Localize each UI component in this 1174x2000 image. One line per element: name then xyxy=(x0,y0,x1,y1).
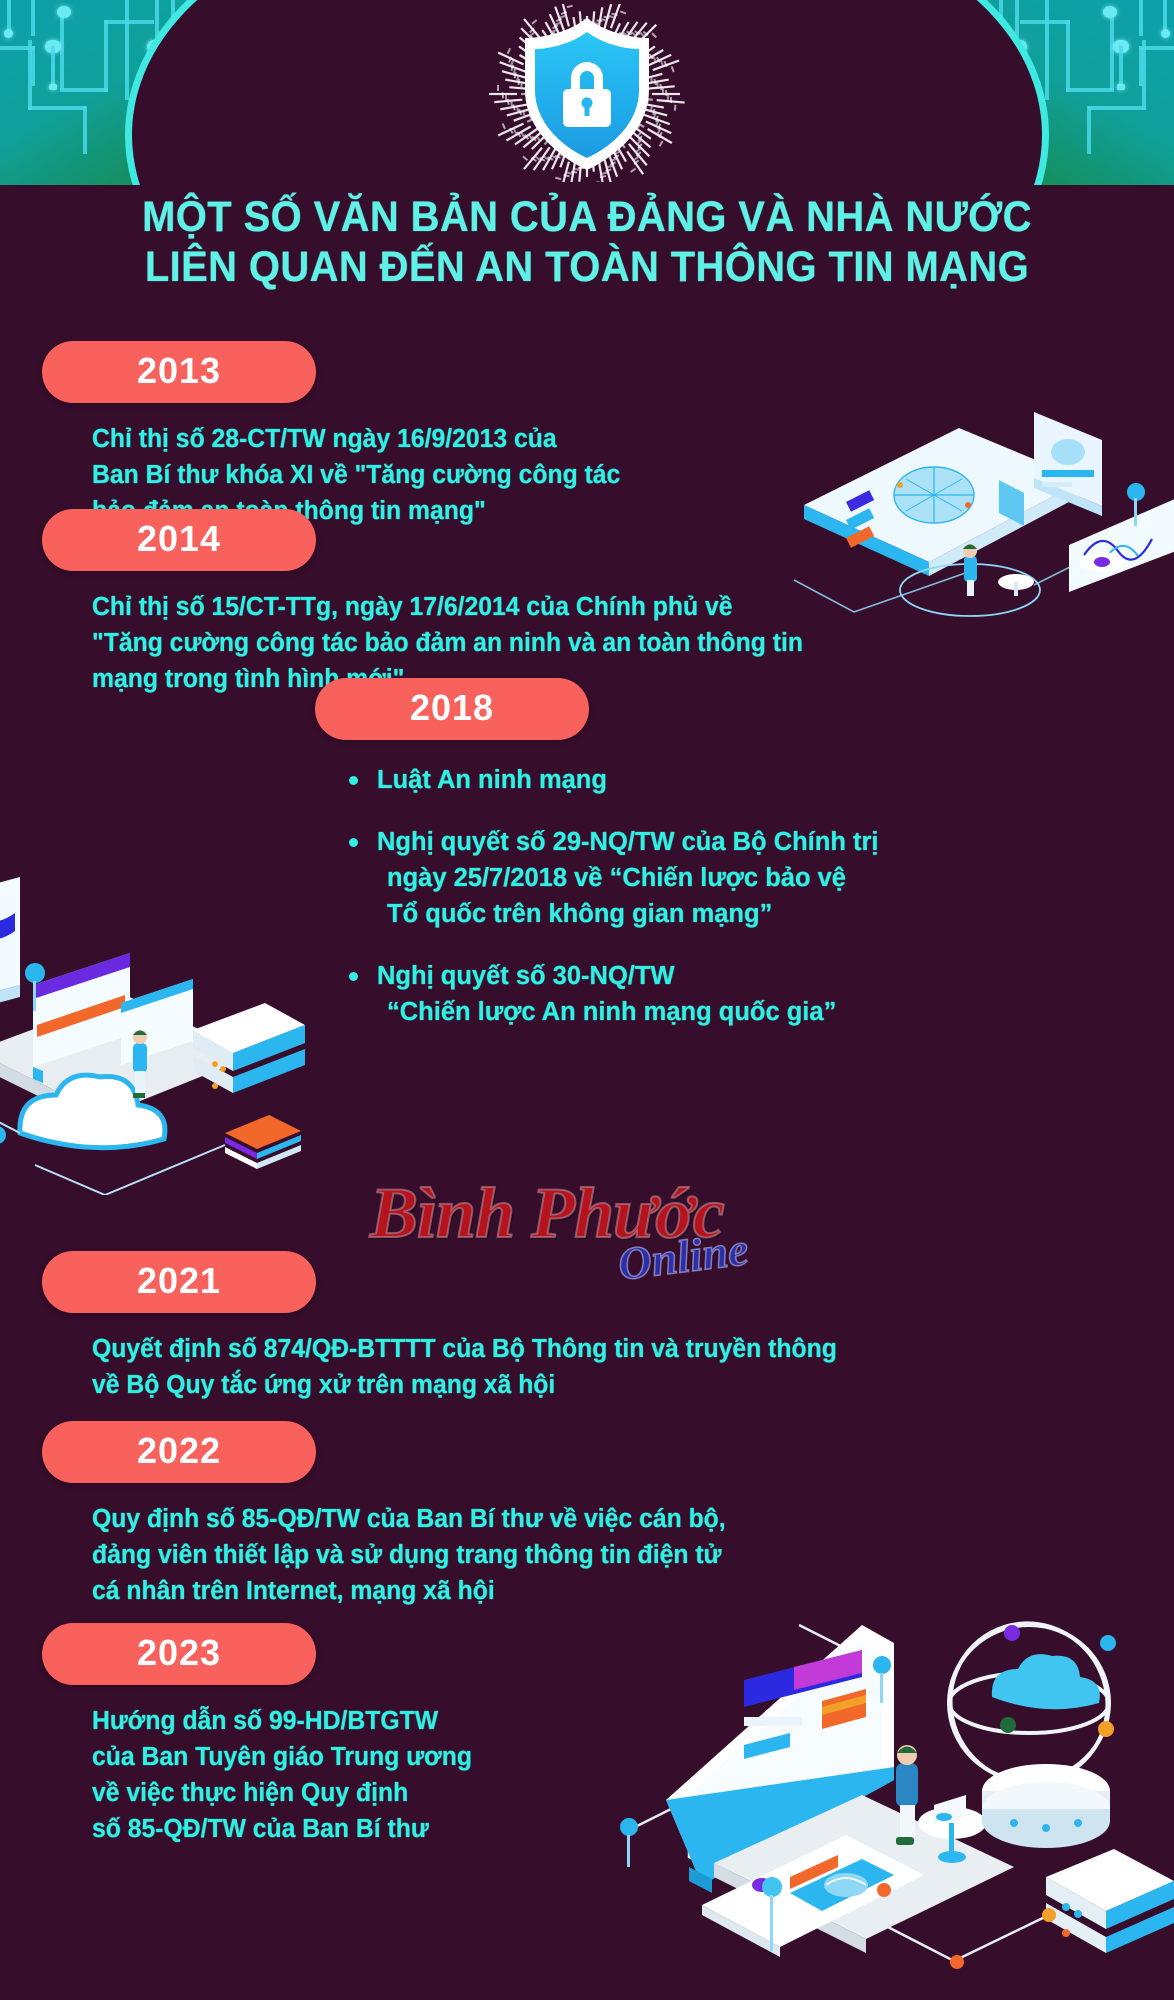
year-badge-2018[interactable]: 2018 xyxy=(315,678,589,740)
text-line: Chỉ thị số 28-CT/TW ngày 16/9/2013 của xyxy=(92,421,620,457)
text-line: Quyết định số 874/QĐ-BTTTT của Bộ Thông … xyxy=(92,1331,837,1367)
text-line: Tổ quốc trên không gian mạng” xyxy=(377,896,879,932)
timeline-entry-2014: 2014 Chỉ thị số 15/CT-TTg, ngày 17/6/201… xyxy=(42,509,825,697)
year-badge-2021[interactable]: 2021 xyxy=(42,1251,316,1313)
text-line: của Ban Tuyên giáo Trung ương xyxy=(92,1739,472,1775)
page-title: MỘT SỐ VĂN BẢN CỦA ĐẢNG VÀ NHÀ NƯỚC LIÊN… xyxy=(0,192,1174,292)
text-line: cá nhân trên Internet, mạng xã hội xyxy=(92,1573,726,1609)
bullet-dot-icon xyxy=(349,838,358,847)
text-line: Nghị quyết số 30-NQ/TW xyxy=(377,958,879,994)
timeline: 2013 Chỉ thị số 28-CT/TW ngày 16/9/2013 … xyxy=(0,0,1174,2000)
list-item: Nghị quyết số 29-NQ/TW của Bộ Chính trị … xyxy=(347,824,879,932)
page-title-line-1: MỘT SỐ VĂN BẢN CỦA ĐẢNG VÀ NHÀ NƯỚC xyxy=(41,192,1133,242)
list-item: Luật An ninh mạng xyxy=(347,762,879,798)
text-line: về Bộ Quy tắc ứng xử trên mạng xã hội xyxy=(92,1367,837,1403)
year-badge-2023[interactable]: 2023 xyxy=(42,1623,316,1685)
bullet-dot-icon xyxy=(349,776,358,785)
year-badge-2022[interactable]: 2022 xyxy=(42,1421,316,1483)
timeline-entry-2018: 2018 Luật An ninh mạng Nghị quyết số 29-… xyxy=(315,678,879,1056)
timeline-body-2021: Quyết định số 874/QĐ-BTTTT của Bộ Thông … xyxy=(92,1331,837,1403)
timeline-entry-2023: 2023 Hướng dẫn số 99-HD/BTGTW của Ban Tu… xyxy=(42,1623,484,1847)
list-item: Nghị quyết số 30-NQ/TW “Chiến lược An ni… xyxy=(347,958,879,1030)
text-line: Quy định số 85-QĐ/TW của Ban Bí thư về v… xyxy=(92,1501,726,1537)
text-line: Ban Bí thư khóa XI về "Tăng cường công t… xyxy=(92,457,620,493)
text-line: đảng viên thiết lập và sử dụng trang thô… xyxy=(92,1537,726,1573)
text-line: Hướng dẫn số 99-HD/BTGTW xyxy=(92,1703,472,1739)
text-line: "Tăng cường công tác bảo đảm an ninh và … xyxy=(92,625,803,661)
text-line: về việc thực hiện Quy định xyxy=(92,1775,472,1811)
timeline-body-2023: Hướng dẫn số 99-HD/BTGTW của Ban Tuyên g… xyxy=(92,1703,472,1847)
timeline-entry-2013: 2013 Chỉ thị số 28-CT/TW ngày 16/9/2013 … xyxy=(42,341,637,529)
text-line: Nghị quyết số 29-NQ/TW của Bộ Chính trị xyxy=(377,824,879,860)
text-line: “Chiến lược An ninh mạng quốc gia” xyxy=(377,994,879,1030)
text-line: số 85-QĐ/TW của Ban Bí thư xyxy=(92,1811,472,1847)
text-line: Chỉ thị số 15/CT-TTg, ngày 17/6/2014 của… xyxy=(92,589,803,625)
timeline-entry-2022: 2022 Quy định số 85-QĐ/TW của Ban Bí thư… xyxy=(42,1421,745,1609)
page-title-line-2: LIÊN QUAN ĐẾN AN TOÀN THÔNG TIN MẠNG xyxy=(41,242,1133,292)
timeline-bullets-2018: Luật An ninh mạng Nghị quyết số 29-NQ/TW… xyxy=(347,762,879,1030)
bullet-dot-icon xyxy=(349,972,358,981)
year-badge-2013[interactable]: 2013 xyxy=(42,341,316,403)
text-line: Luật An ninh mạng xyxy=(377,762,879,798)
timeline-body-2022: Quy định số 85-QĐ/TW của Ban Bí thư về v… xyxy=(92,1501,726,1609)
text-line: ngày 25/7/2018 về “Chiến lược bảo vệ xyxy=(377,860,879,896)
timeline-entry-2021: 2021 Quyết định số 874/QĐ-BTTTT của Bộ T… xyxy=(42,1251,860,1403)
year-badge-2014[interactable]: 2014 xyxy=(42,509,316,571)
